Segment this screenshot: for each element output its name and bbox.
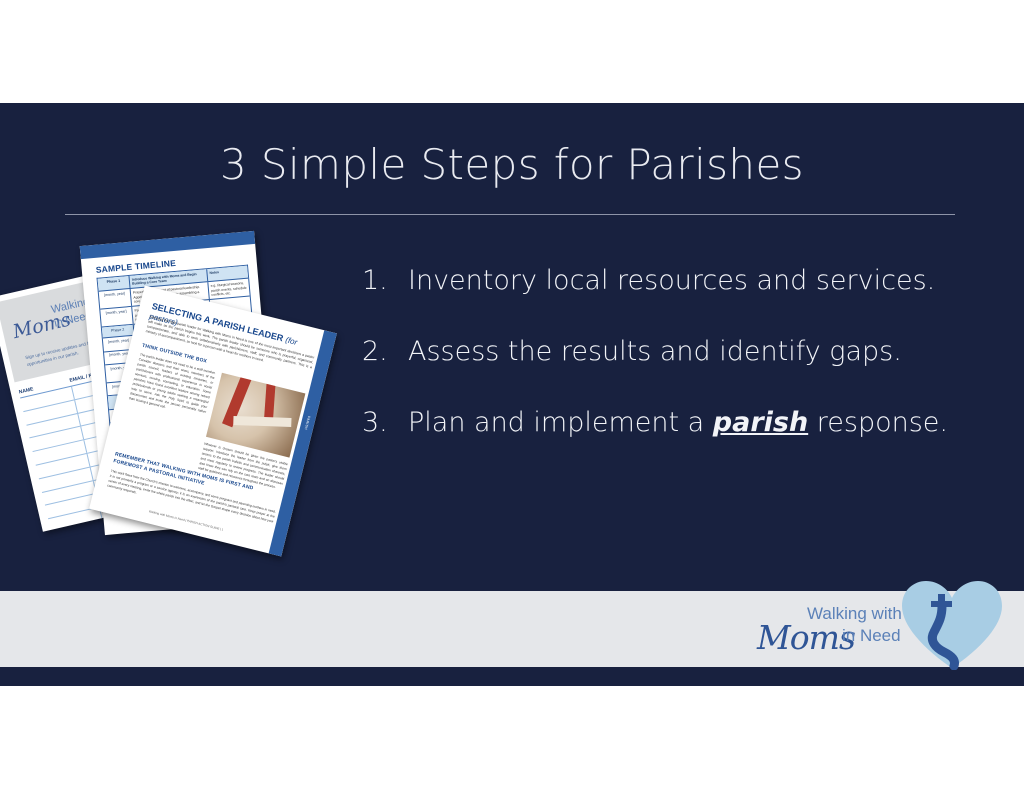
step-number: 3. [362,407,408,438]
step-text-main: Assess the results and identify gaps. [408,336,902,367]
step-text-emphasis: parish [713,407,808,438]
step-number: 2. [362,336,408,367]
step-text: Assess the results and identify gaps. [408,336,982,367]
step-text-main: Plan and implement a [408,407,713,438]
step-text-main: Inventory local resources and services. [408,265,935,296]
cell-phase: [month, year] [100,307,133,327]
photo-arm [233,416,291,427]
brand-logo: Moms Walking with in Need [757,578,1012,670]
cell-notes: e.g. liturgical seasons, parish events, … [208,279,249,299]
step-number: 1. [362,265,408,296]
slide-canvas: 3 Simple Steps for Parishes 1. Inventory… [0,0,1024,791]
logo-wordmark: Moms Walking with in Need [757,604,917,656]
logo-line-walking-with: Walking with [807,604,902,624]
list-item: 1. Inventory local resources and service… [362,265,982,296]
logo-line-in-need: in Need [842,626,901,646]
list-item: 2. Assess the results and identify gaps. [362,336,982,367]
page-title: 3 Simple Steps for Parishes [0,140,1024,189]
steps-list: 1. Inventory local resources and service… [362,265,982,478]
cell-phase: [month, year] [99,289,132,309]
list-item: 3. Plan and implement a parish response. [362,407,982,438]
title-divider [65,214,955,215]
document-cluster: Moms Walking with in Need Sign up to rec… [14,238,344,548]
step-text: Inventory local resources and services. [408,265,982,296]
step-text: Plan and implement a parish response. [408,407,982,438]
step-text-tail: response. [808,407,948,438]
